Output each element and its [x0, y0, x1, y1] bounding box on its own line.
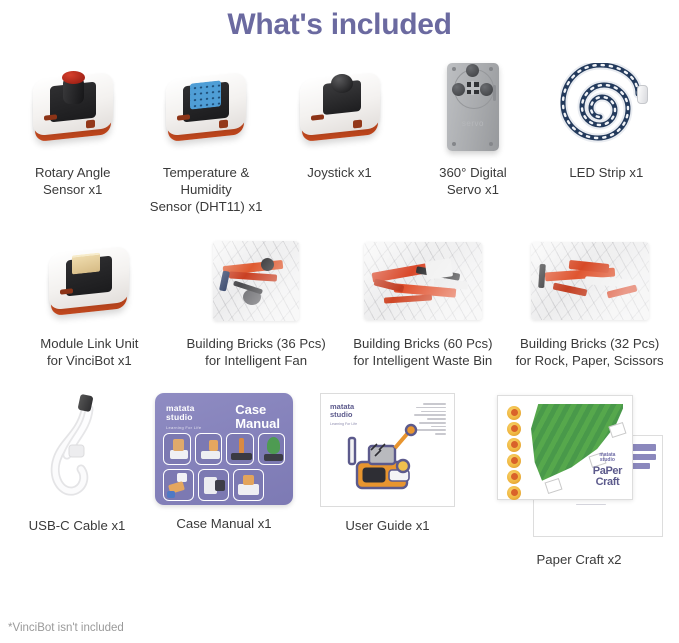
- product-label: LED Strip x1: [569, 164, 643, 181]
- page-title: What's included: [0, 0, 679, 45]
- hand-token-icon: [507, 486, 521, 500]
- module-link-unit-image: [46, 233, 132, 328]
- product-label: Paper Craft x2: [536, 551, 621, 568]
- module-port-side: [219, 120, 228, 129]
- servo-hole-top-icon: [466, 64, 479, 77]
- product-label: Case Manual x1: [176, 515, 271, 532]
- brick-bag-36: [213, 241, 299, 321]
- module-port: [60, 288, 73, 294]
- craft-fold-line: [576, 504, 606, 505]
- hand-token-column: [507, 406, 521, 500]
- project-tile: [163, 469, 194, 501]
- craft-strip: [630, 463, 650, 469]
- servo-screw: [489, 142, 493, 146]
- product-cell-led-strip: LED Strip x1: [540, 57, 673, 181]
- brick-bag-60-image: [364, 233, 482, 328]
- product-cell-user-guide: matata studio Learning For Life: [315, 393, 460, 534]
- servo-screw: [452, 142, 456, 146]
- user-guide-sheet: matata studio Learning For Life: [320, 393, 455, 507]
- servo-brand-text: servo: [447, 119, 499, 128]
- bag-sheen: [364, 242, 482, 320]
- craft-glue-tab: [545, 477, 563, 493]
- led-strip: [560, 63, 652, 151]
- project-tile: [163, 433, 191, 465]
- rotary-angle-sensor-image: [30, 57, 116, 157]
- servo-screw: [489, 67, 493, 71]
- product-label: Module Link Unit for VinciBot x1: [40, 335, 138, 369]
- product-label: Rotary Angle Sensor x1: [35, 164, 111, 198]
- joystick-image: [297, 57, 383, 157]
- bag-sheen: [531, 242, 649, 320]
- case-manual-tiles: [163, 433, 285, 501]
- brand-line-2: studio: [330, 410, 353, 419]
- servo-slit: [493, 85, 496, 101]
- hand-token-icon: [507, 454, 521, 468]
- paper-craft-logo: matata studio PaPer Craft: [593, 453, 622, 488]
- craft-strip: [630, 444, 656, 451]
- led-strip-image: [560, 57, 652, 157]
- brick-bag-36-image: [213, 233, 299, 328]
- case-manual-title: Case Manual: [235, 403, 280, 431]
- product-cell-rotary-angle-sensor: Rotary Angle Sensor x1: [6, 57, 139, 198]
- product-cell-digital-servo: servo 360° Digital Servo x1: [406, 57, 539, 198]
- case-manual-image: matata studio Learning For Life Case Man…: [155, 393, 293, 505]
- digital-servo: servo: [447, 63, 499, 151]
- product-cell-paper-craft: matata studio PaPer Craft Paper Craft x2: [490, 389, 668, 568]
- hand-token-icon: [507, 470, 521, 484]
- product-label: USB-C Cable x1: [29, 517, 126, 534]
- user-guide-image: matata studio Learning For Life: [320, 393, 455, 507]
- tile-row-bottom: [163, 469, 285, 501]
- usb-c-cable-image: [17, 389, 137, 507]
- brick-bag-60: [364, 242, 482, 320]
- product-row-2: Module Link Unit for VinciBot x1 Buildin…: [0, 233, 679, 369]
- product-label: User Guide x1: [345, 517, 429, 534]
- product-cell-usb-c-cable: USB-C Cable x1: [8, 389, 146, 534]
- product-cell-joystick: Joystick x1: [273, 57, 406, 181]
- matata-studio-logo: matata studio: [593, 453, 622, 464]
- paper-craft-front-sheet: matata studio PaPer Craft: [497, 395, 633, 500]
- hand-token-icon: [507, 438, 521, 452]
- project-tile: [233, 469, 264, 501]
- product-label: Temperature & Humidity Sensor (DHT11) x1: [139, 164, 272, 215]
- craft-strip: [630, 454, 656, 460]
- product-label: 360° Digital Servo x1: [439, 164, 507, 198]
- product-cell-module-link-unit: Module Link Unit for VinciBot x1: [6, 233, 173, 369]
- digital-servo-image: servo: [447, 57, 499, 157]
- hand-token-icon: [507, 422, 521, 436]
- matata-studio-logo: matata studio Learning For Life: [166, 404, 201, 432]
- brand-tagline: Learning For Life: [166, 423, 201, 432]
- project-tile: [226, 433, 254, 465]
- module-port-side: [353, 120, 362, 129]
- product-label: Building Bricks (36 Pcs) for Intelligent…: [187, 335, 326, 369]
- rotary-knob-cap-icon: [62, 71, 85, 84]
- led-strip-connector-icon: [637, 85, 648, 104]
- servo-hole-left-icon: [452, 83, 465, 96]
- joystick-ball-icon: [331, 74, 353, 93]
- led-spiral-icon: [560, 63, 652, 151]
- product-label: Building Bricks (32 Pcs) for Rock, Paper…: [516, 335, 664, 369]
- servo-cross-hub-icon: [467, 82, 479, 94]
- module-link-unit: [46, 242, 132, 320]
- paper-craft-wordmark: PaPer Craft: [593, 466, 622, 488]
- brick-bag-32-image: [531, 233, 649, 328]
- product-label: Building Bricks (60 Pcs) for Intelligent…: [353, 335, 492, 369]
- joystick-module: [297, 68, 383, 146]
- product-cell-bricks-32: Building Bricks (32 Pcs) for Rock, Paper…: [506, 233, 673, 369]
- temperature-humidity-sensor-image: [163, 57, 249, 157]
- product-label: Joystick x1: [307, 164, 372, 181]
- brand-line-2: studio: [166, 412, 193, 422]
- rotary-angle-sensor-module: [30, 68, 116, 146]
- product-row-3: USB-C Cable x1 matata studio Learning Fo…: [0, 389, 679, 619]
- product-cell-temperature-humidity-sensor: Temperature & Humidity Sensor (DHT11) x1: [139, 57, 272, 215]
- case-manual-card: matata studio Learning For Life Case Man…: [155, 393, 293, 505]
- paper-craft-image: matata studio PaPer Craft: [495, 389, 663, 541]
- product-row-1: Rotary Angle Sensor x1 Temperature & Hum…: [0, 57, 679, 215]
- module-port-side: [86, 120, 95, 129]
- servo-hole-right-icon: [480, 83, 493, 96]
- project-tile: [258, 433, 286, 465]
- dht11-sensor-icon: [190, 80, 221, 109]
- servo-screw: [452, 67, 456, 71]
- link-connector-icon: [72, 252, 100, 274]
- paper-craft-sheets: matata studio PaPer Craft: [495, 393, 663, 538]
- product-cell-case-manual: matata studio Learning For Life Case Man…: [155, 393, 293, 532]
- vincibot-illustration-icon: [341, 422, 431, 498]
- brick-bag-32: [531, 242, 649, 320]
- temperature-humidity-sensor-module: [163, 68, 249, 146]
- footnote: *VinciBot isn't included: [8, 622, 124, 634]
- product-cell-bricks-60: Building Bricks (60 Pcs) for Intelligent…: [340, 233, 507, 369]
- bag-sheen: [213, 241, 299, 321]
- project-tile: [195, 433, 223, 465]
- product-cell-bricks-36: Building Bricks (36 Pcs) for Intelligent…: [173, 233, 340, 369]
- usb-c-cable: [17, 389, 137, 507]
- project-tile: [198, 469, 229, 501]
- hand-token-icon: [507, 406, 521, 420]
- tile-row-top: [163, 433, 285, 465]
